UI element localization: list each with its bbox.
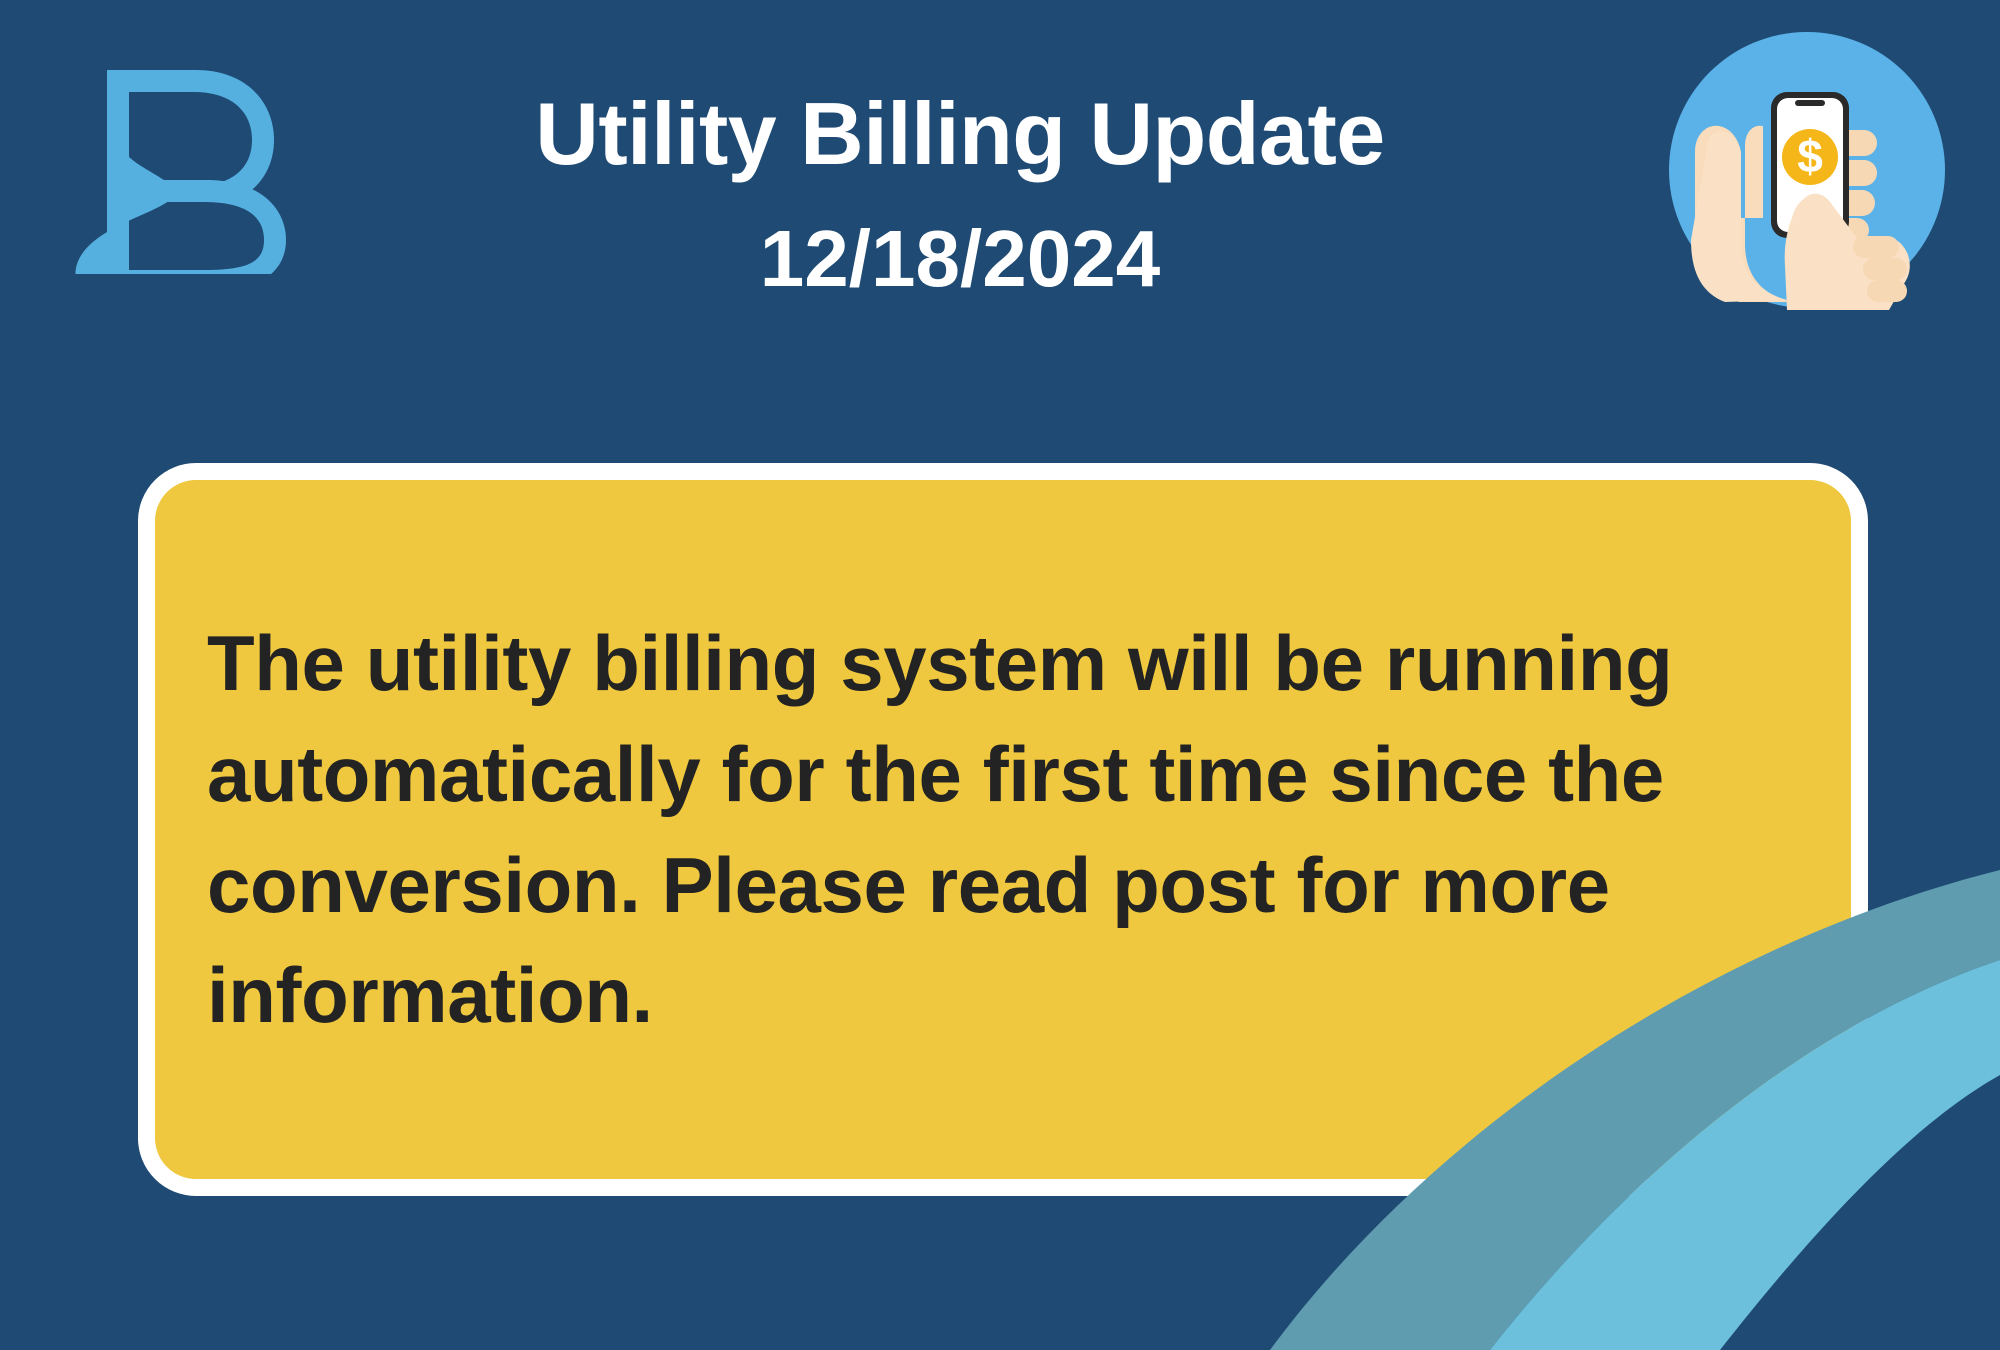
hand-holding-phone-with-dollar-coin-icon: $ — [1667, 30, 1947, 310]
update-date: 12/18/2024 — [330, 215, 1590, 303]
poster-canvas: Utility Billing Update 12/18/2024 $ — [0, 0, 2000, 1350]
svg-text:$: $ — [1797, 130, 1823, 182]
headline-block: Utility Billing Update 12/18/2024 — [330, 86, 1590, 303]
announcement-body: The utility billing system will be runni… — [155, 608, 1851, 1051]
page-title: Utility Billing Update — [330, 86, 1590, 181]
river-b-logo — [66, 44, 286, 274]
announcement-callout: The utility billing system will be runni… — [138, 463, 1868, 1196]
